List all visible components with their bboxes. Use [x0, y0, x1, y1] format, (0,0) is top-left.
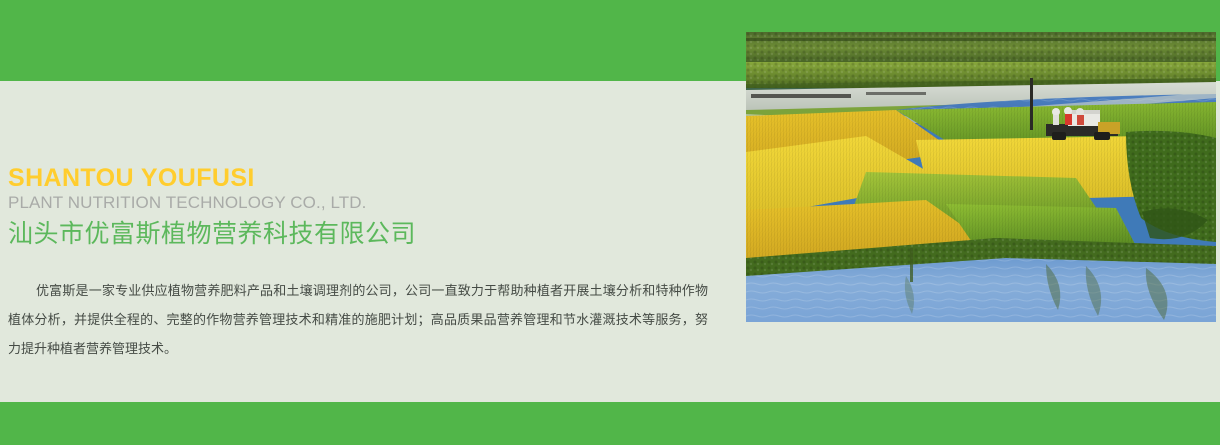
bottom-green-band [0, 402, 1220, 445]
company-name-chinese: 汕头市优富斯植物营养科技有限公司 [8, 218, 708, 250]
left-content-column: SHANTOU YOUFUSI PLANT NUTRITION TECHNOLO… [0, 81, 740, 402]
company-subtitle-english: PLANT NUTRITION TECHNOLOGY CO., LTD. [8, 192, 708, 214]
brand-block: SHANTOU YOUFUSI PLANT NUTRITION TECHNOLO… [8, 164, 708, 250]
company-name-english: SHANTOU YOUFUSI [8, 164, 708, 192]
hero-photo-frame [746, 32, 1216, 322]
rice-paddy-fields-photo [746, 32, 1216, 322]
page-root: SHANTOU YOUFUSI PLANT NUTRITION TECHNOLO… [0, 0, 1220, 445]
company-intro-paragraph: 优富斯是一家专业供应植物营养肥料产品和土壤调理剂的公司，公司一直致力于帮助种植者… [8, 277, 708, 364]
